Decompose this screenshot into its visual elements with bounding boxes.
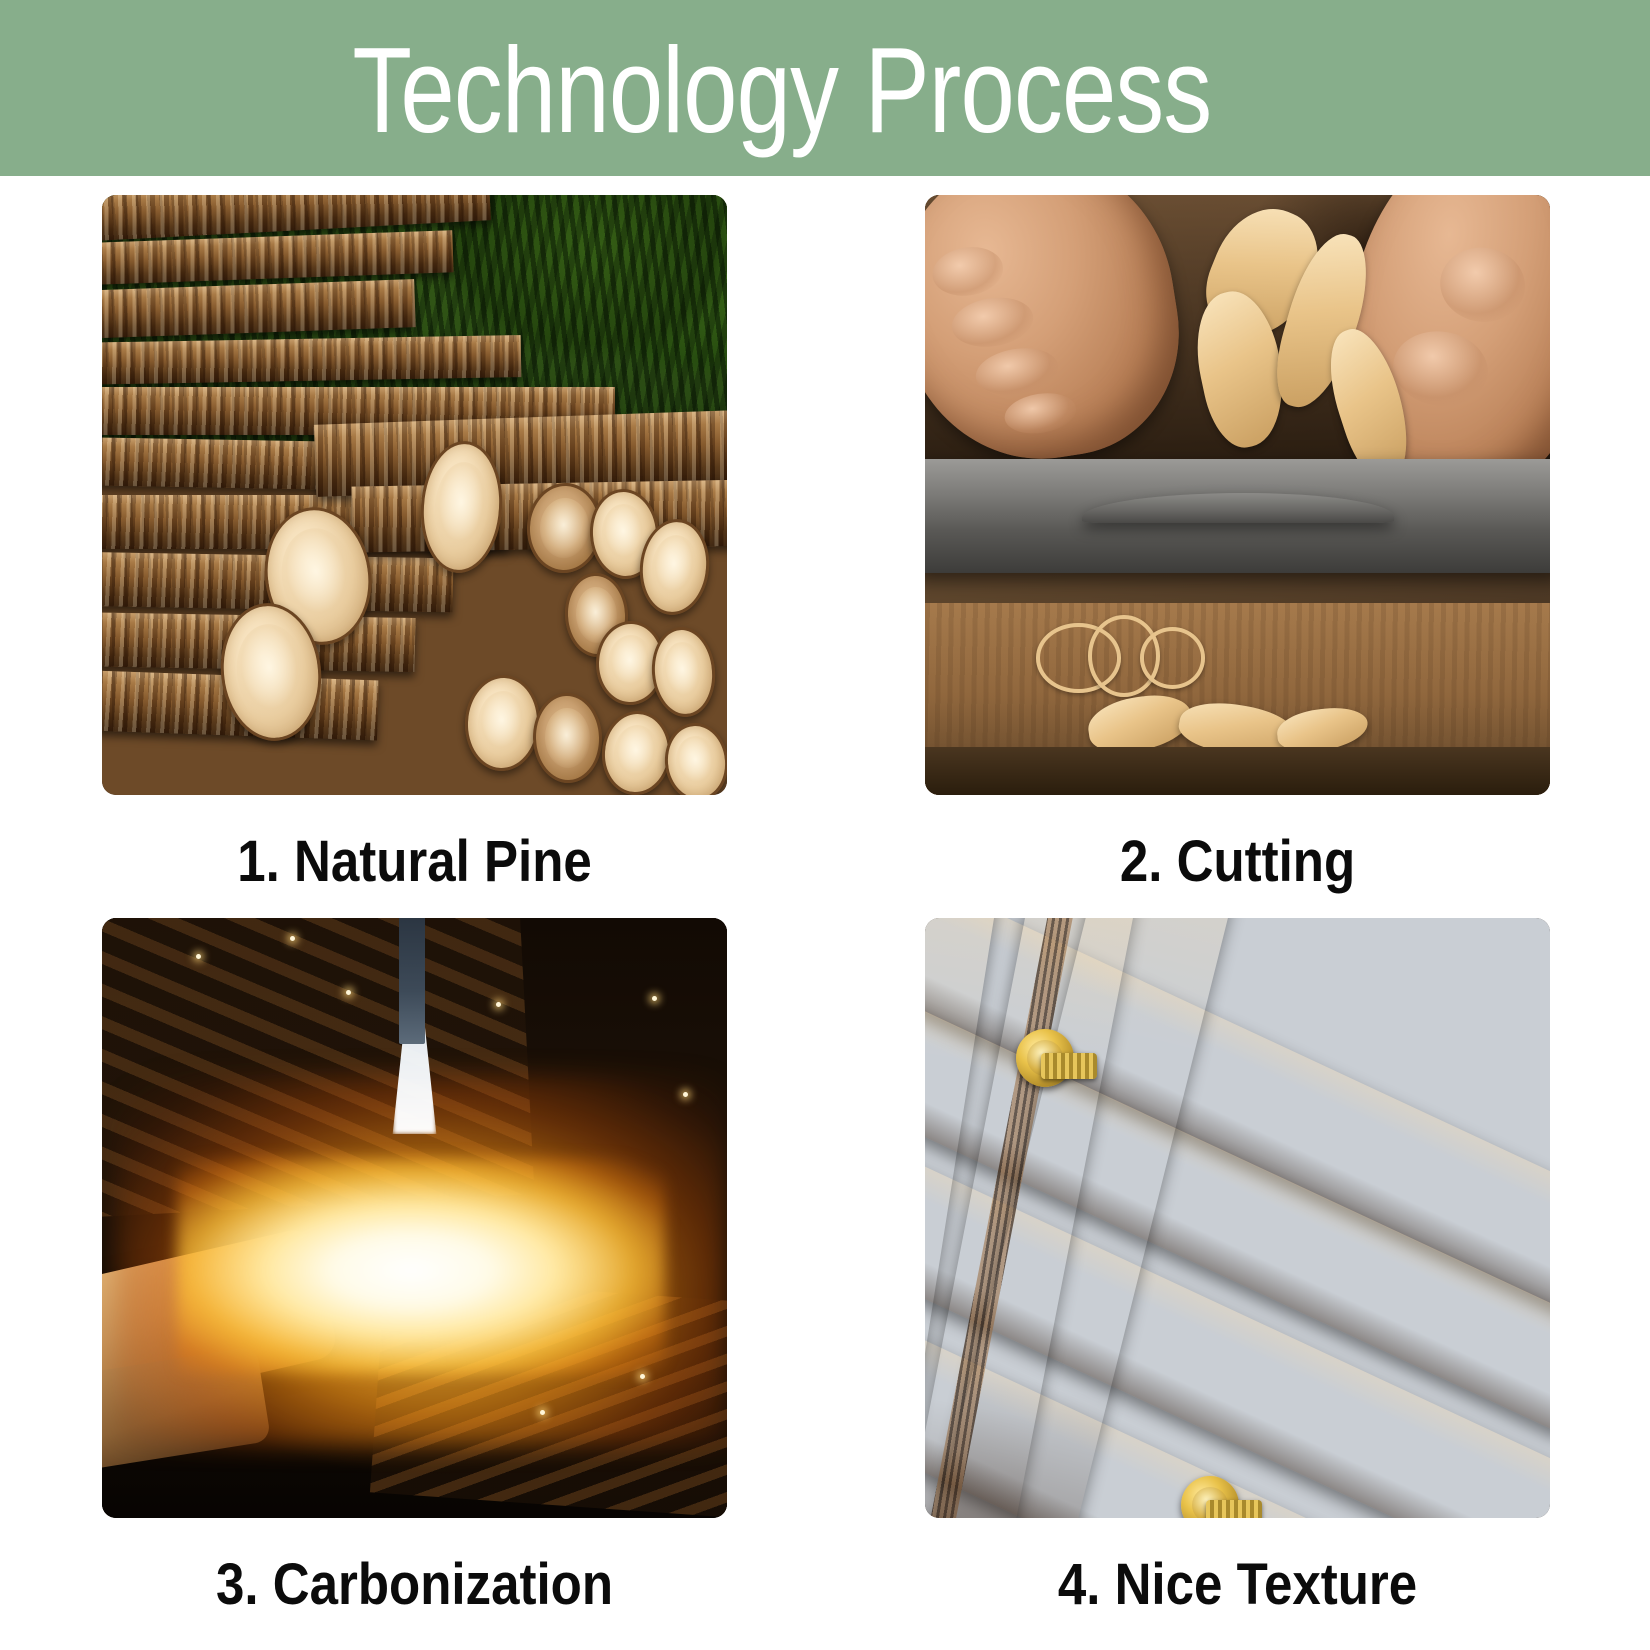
log-stack-photo xyxy=(102,195,727,795)
step-3-image xyxy=(102,918,727,1518)
flame-core xyxy=(177,1158,665,1374)
page-title: Technology Process xyxy=(352,29,1211,151)
step-3-caption: 3. Carbonization xyxy=(140,1556,690,1614)
step-2-image xyxy=(925,195,1550,795)
plane-body xyxy=(925,459,1550,573)
step-4-caption: 4. Nice Texture xyxy=(963,1556,1513,1614)
process-step-1: 1. Natural Pine xyxy=(102,195,727,891)
process-step-3: 3. Carbonization xyxy=(102,918,727,1614)
bolt-shaft xyxy=(1041,1053,1097,1079)
header-banner: Technology Process xyxy=(0,0,1650,176)
step-1-caption: 1. Natural Pine xyxy=(140,833,690,891)
torch-nozzle xyxy=(399,918,425,1044)
process-step-4: 4. Nice Texture xyxy=(925,918,1550,1614)
bolt-shaft xyxy=(1206,1500,1262,1518)
flame-torch-photo xyxy=(102,918,727,1518)
step-4-image xyxy=(925,918,1550,1518)
step-2-caption: 2. Cutting xyxy=(963,833,1513,891)
plane-horn xyxy=(1082,493,1394,523)
bench-edge xyxy=(925,747,1550,795)
technology-process-infographic: Technology Process xyxy=(0,0,1650,1650)
process-step-2: 2. Cutting xyxy=(925,195,1550,891)
step-1-image xyxy=(102,195,727,795)
wood-slats-photo xyxy=(925,918,1550,1518)
process-steps-grid: 1. Natural Pine xyxy=(0,176,1650,1650)
hand-plane-photo xyxy=(925,195,1550,795)
